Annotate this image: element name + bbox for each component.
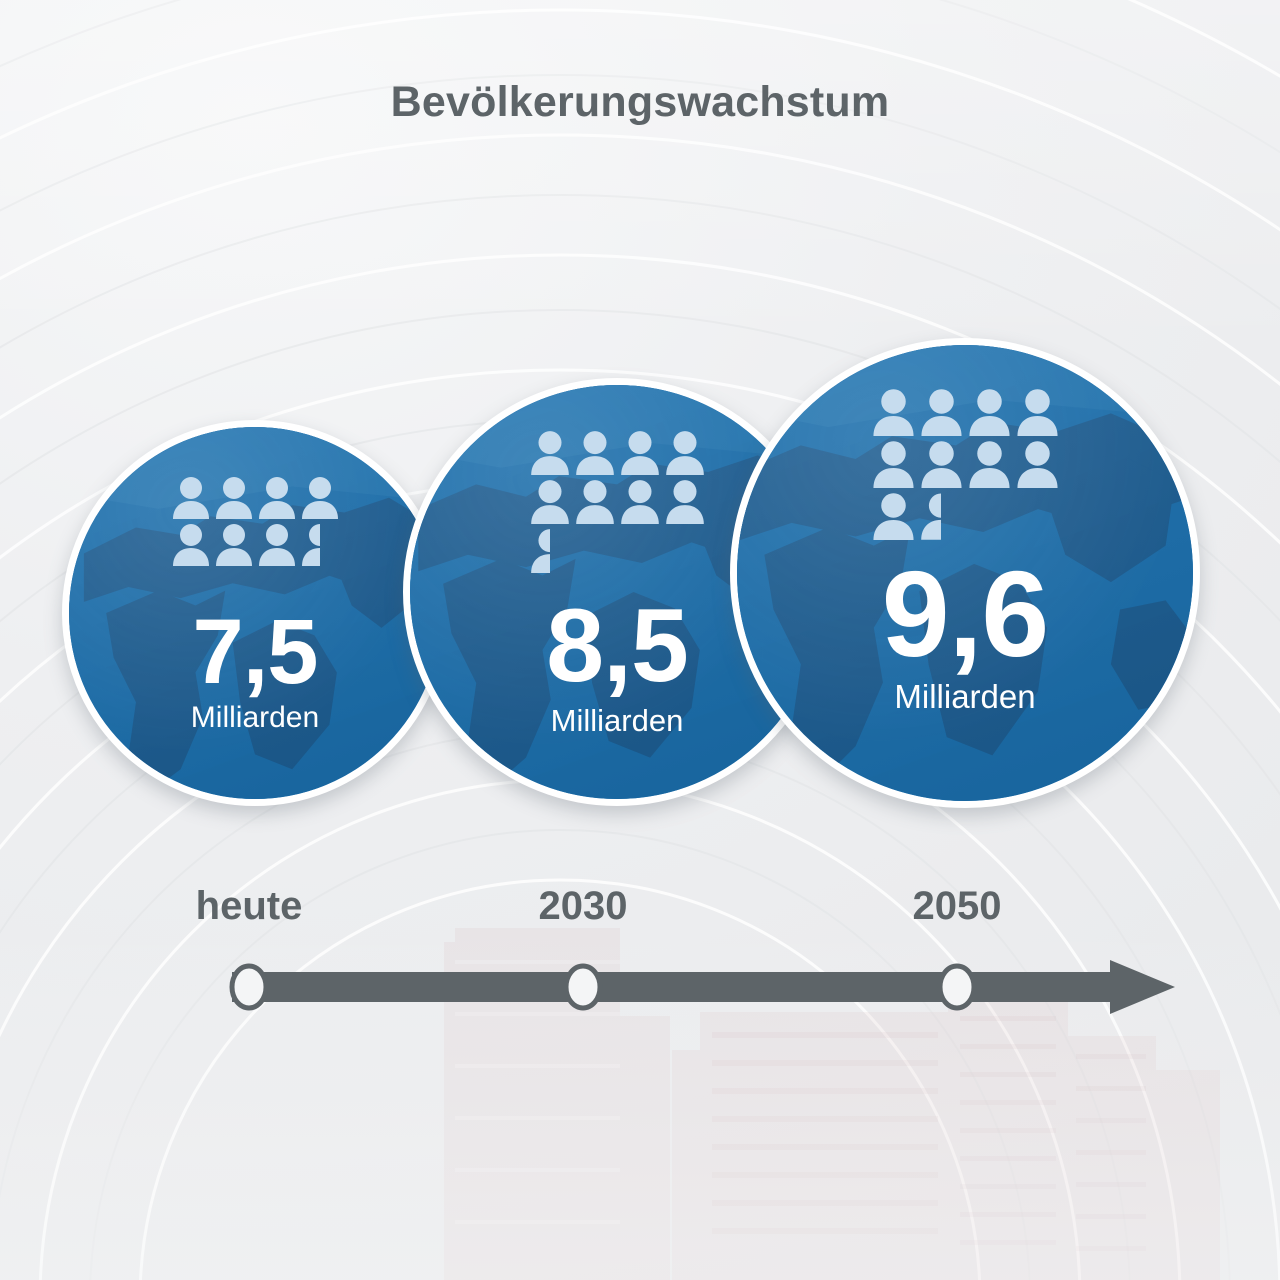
- person-half-icon: [529, 527, 550, 573]
- globe-group: 7,5 Milliarden: [0, 0, 1280, 1280]
- globe-value-2050: 9,6: [882, 558, 1049, 670]
- globe-card-heute[interactable]: 7,5 Milliarden: [62, 420, 448, 806]
- person-icon: [664, 478, 706, 524]
- people-row: [871, 491, 1060, 540]
- people-row: [171, 475, 340, 519]
- person-icon: [300, 475, 340, 519]
- person-icon: [919, 439, 964, 488]
- person-icon: [1015, 387, 1060, 436]
- people-row: [871, 439, 1060, 488]
- person-icon: [967, 387, 1012, 436]
- person-icon: [171, 475, 211, 519]
- people-row: [171, 522, 340, 566]
- globe-unit-2050: Milliarden: [894, 680, 1035, 713]
- person-icon: [871, 439, 916, 488]
- person-icon: [619, 429, 661, 475]
- globe-unit-heute: Milliarden: [191, 703, 319, 733]
- person-icon: [619, 478, 661, 524]
- person-icon: [171, 522, 211, 566]
- person-icon: [1015, 439, 1060, 488]
- people-row: [871, 387, 1060, 436]
- person-icon: [214, 522, 254, 566]
- person-icon: [257, 522, 297, 566]
- globe-content-heute: 7,5 Milliarden: [69, 427, 441, 799]
- people-pictogram-heute: [171, 475, 340, 566]
- globe-value-heute: 7,5: [193, 610, 318, 695]
- person-icon: [574, 478, 616, 524]
- person-icon: [664, 429, 706, 475]
- person-icon: [919, 387, 964, 436]
- person-icon: [529, 429, 571, 475]
- globe-value-2030: 8,5: [546, 599, 688, 695]
- people-pictogram-2050: [871, 387, 1060, 540]
- people-row: [529, 429, 706, 475]
- people-pictogram-2030: [529, 429, 706, 573]
- person-icon: [529, 478, 571, 524]
- globe-unit-2030: Milliarden: [551, 705, 684, 736]
- person-icon: [257, 475, 297, 519]
- person-half-icon: [300, 522, 320, 566]
- globe-card-2050[interactable]: 9,6 Milliarden: [730, 338, 1200, 808]
- person-icon: [214, 475, 254, 519]
- person-half-icon: [919, 491, 941, 540]
- people-row: [529, 527, 706, 573]
- person-icon: [574, 429, 616, 475]
- person-icon: [871, 387, 916, 436]
- person-icon: [871, 491, 916, 540]
- person-icon: [967, 439, 1012, 488]
- infographic-canvas: Bevölkerungswachstum: [0, 0, 1280, 1280]
- people-row: [529, 478, 706, 524]
- globe-content-2050: 9,6 Milliarden: [737, 345, 1193, 801]
